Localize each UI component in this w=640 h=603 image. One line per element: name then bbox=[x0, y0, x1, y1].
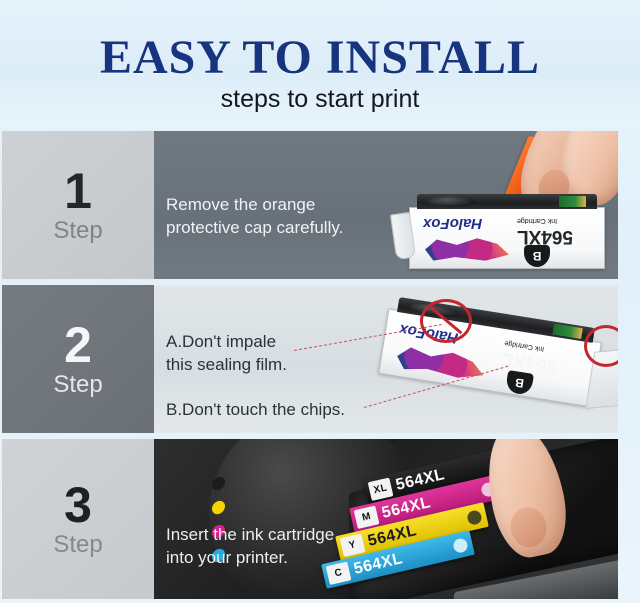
poster-header: EASY TO INSTALL steps to start print bbox=[0, 0, 640, 128]
install-instructions-poster: EASY TO INSTALL steps to start print 1 S… bbox=[0, 0, 640, 603]
cartridge-tag-magenta: M bbox=[354, 505, 380, 528]
step-panel-1: 1 Step Remove the orange protective cap … bbox=[2, 131, 618, 279]
cartridge-tag-black: XL bbox=[368, 477, 394, 500]
cartridge-tag-yellow: Y bbox=[340, 533, 366, 556]
step-2-illustration: A.Don't impale this sealing film. B.Don'… bbox=[154, 285, 618, 433]
step-3-illustration: XL 564XL M 564XL Y 564XL C 564XL bbox=[154, 439, 618, 599]
slot-marker-black bbox=[212, 476, 225, 492]
printer-body: XL 564XL M 564XL Y 564XL C 564XL bbox=[154, 439, 618, 599]
sealing-film bbox=[428, 196, 475, 207]
step-2-number: 2 bbox=[64, 320, 92, 370]
no-impale-film-warning-icon bbox=[420, 299, 472, 343]
step-1-illustration: Remove the orange protective cap careful… bbox=[154, 131, 618, 279]
cartridge-brand-1: HaloFox bbox=[423, 215, 482, 232]
cartridge-model-1: 564XL bbox=[517, 225, 573, 247]
step-2-number-box: 2 Step bbox=[2, 285, 154, 433]
page-title: EASY TO INSTALL bbox=[0, 33, 640, 83]
step-3-label: Step bbox=[53, 532, 102, 558]
step-panel-2: 2 Step A.Don't impale this sealing film.… bbox=[2, 285, 618, 433]
step-3-number-box: 3 Step bbox=[2, 439, 154, 599]
step-3-number: 3 bbox=[64, 480, 92, 530]
step-1-caption: Remove the orange protective cap careful… bbox=[166, 193, 343, 239]
page-subtitle: steps to start print bbox=[0, 84, 640, 114]
cartridge-type-1: Ink Cartridge bbox=[517, 217, 557, 224]
slot-marker-yellow bbox=[212, 500, 225, 516]
step-panel-3: 3 Step XL 564XL M bbox=[2, 439, 618, 599]
chip-contacts bbox=[559, 196, 586, 207]
step-1-label: Step bbox=[53, 218, 102, 244]
step-2-label: Step bbox=[53, 372, 102, 398]
step-1-number: 1 bbox=[64, 166, 92, 216]
step-2-caption-a: A.Don't impale this sealing film. bbox=[166, 330, 287, 376]
chip-contacts bbox=[552, 324, 583, 340]
step-3-caption: Insert the ink cartridge into your print… bbox=[166, 523, 334, 569]
ink-cartridge-step1: HaloFox Ink Cartridge 564XL B bbox=[409, 207, 605, 269]
step-2-caption-b: B.Don't touch the chips. bbox=[166, 398, 345, 421]
cartridge-top bbox=[417, 194, 597, 209]
step-1-number-box: 1 Step bbox=[2, 131, 154, 279]
